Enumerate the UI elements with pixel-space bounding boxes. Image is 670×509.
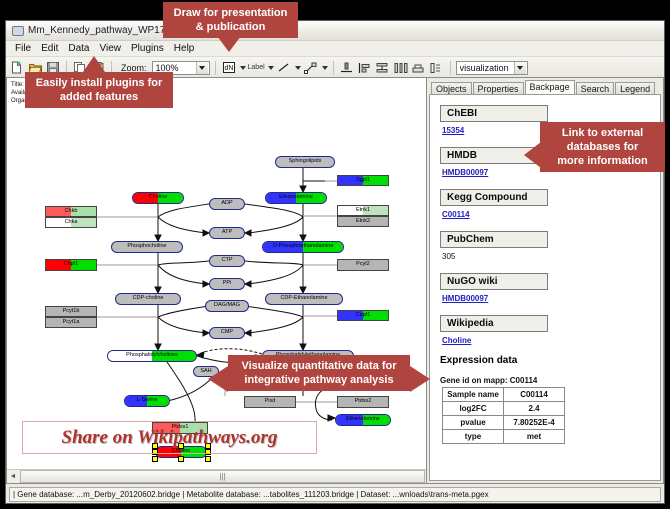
menu-item-file[interactable]: File <box>10 41 36 56</box>
db-link-nugowiki[interactable]: HMDB00097 <box>442 294 652 303</box>
node-label: CMP <box>210 328 244 338</box>
metabolite-node-ethanolamine-top[interactable]: Ethanolamine <box>265 192 327 204</box>
node-label: Phosphatidylcholines <box>108 351 196 361</box>
exp-cell-key: type <box>443 430 504 444</box>
db-header-wikipedia: Wikipedia <box>440 315 548 332</box>
metabolite-node-atp[interactable]: ATP <box>209 227 245 239</box>
db-header-nugowiki: NuGO wiki <box>440 273 548 290</box>
callout-visualize: Visualize quantitative data for integrat… <box>228 355 410 391</box>
node-label: CTP <box>210 256 244 266</box>
chevron-down-icon[interactable] <box>196 62 208 74</box>
align-left-icon[interactable] <box>357 59 373 76</box>
chevron-down-icon[interactable] <box>514 62 526 74</box>
metabolite-node-cdp-ethanolamine[interactable]: CDP-Ethanolamine <box>265 293 343 305</box>
zoom-value: 100% <box>156 63 179 73</box>
callout-visualize-arrow-left-icon <box>208 366 228 392</box>
node-label: CDP-Ethanolamine <box>266 294 342 304</box>
expression-table: Sample name C00114 log2FC 2.4 pvalue 7.8… <box>442 387 565 444</box>
exp-cell-value: met <box>504 430 565 444</box>
visualization-value: visualization <box>460 63 509 73</box>
metabolite-node-sphingolipids[interactable]: Sphingolipids <box>275 156 335 168</box>
label-dropdown-label[interactable]: Label <box>248 64 265 71</box>
metabolite-node-cmp[interactable]: CMP <box>209 327 245 339</box>
metabolite-node-l-serine-left[interactable]: L-Serine <box>124 395 170 407</box>
scroll-left-arrow-icon[interactable]: ◄ <box>7 471 19 483</box>
node-label: DAG/MAG <box>206 301 248 311</box>
node-label: Chka <box>46 218 96 227</box>
visualization-combobox[interactable]: visualization <box>456 61 528 75</box>
node-label: O-Phosphoethanolamine <box>263 242 343 252</box>
callout-draw-line2: & publication <box>171 20 290 34</box>
gene-node-etnk1[interactable]: Etnk1 <box>337 205 389 216</box>
tab-backpage[interactable]: Backpage <box>525 80 575 94</box>
callout-links-line1: Link to external <box>548 126 657 140</box>
callout-plugins: Easily install plugins for added feature… <box>25 72 173 108</box>
gene-node-cept1[interactable]: Cept1 <box>337 310 389 321</box>
table-row: log2FC 2.4 <box>443 402 565 416</box>
status-databases: | Gene database: ...m_Derby_20120602.bri… <box>9 487 661 502</box>
menu-item-edit[interactable]: Edit <box>36 41 63 56</box>
line-tool-icon[interactable] <box>276 59 292 76</box>
selection-handle[interactable] <box>178 456 184 462</box>
callout-links-line2: databases for <box>548 140 657 154</box>
menu-item-help[interactable]: Help <box>169 41 200 56</box>
db-link-wikipedia[interactable]: Choline <box>442 336 652 345</box>
menu-bar: File Edit Data View Plugins Help <box>6 41 664 57</box>
callout-share: Share on Wikipathways.org <box>22 421 317 454</box>
menu-item-view[interactable]: View <box>94 41 126 56</box>
chevron-down-icon[interactable] <box>268 66 274 70</box>
metabolite-node-cdp-choline[interactable]: CDP-choline <box>115 293 181 305</box>
exp-cell-value: C00114 <box>504 388 565 402</box>
db-header-pubchem: PubChem <box>440 231 548 248</box>
exp-cell-key: Sample name <box>443 388 504 402</box>
db-link-kegg[interactable]: C00114 <box>442 210 652 219</box>
node-label: Pisd <box>245 397 295 407</box>
node-label: ATP <box>210 228 244 238</box>
gene-node-chkb[interactable]: Chkb <box>45 206 97 217</box>
callout-draw-arrow-stem <box>221 34 236 40</box>
scroll-thumb[interactable]: ||| <box>20 470 425 483</box>
callout-draw-line1: Draw for presentation <box>171 6 290 20</box>
callout-draw: Draw for presentation & publication <box>163 2 298 38</box>
node-label: CDP-choline <box>116 294 180 304</box>
side-panel-tabs: Objects Properties Backpage Search Legen… <box>427 78 663 94</box>
table-row: type met <box>443 430 565 444</box>
exp-cell-key: log2FC <box>443 402 504 416</box>
anchor-tool-icon[interactable] <box>303 59 319 76</box>
node-label: Cept1 <box>338 311 388 320</box>
node-label: Choline <box>133 193 183 203</box>
node-label: Sgpl1 <box>338 176 388 185</box>
callout-share-text: Share on Wikipathways.org <box>62 427 278 449</box>
metabolite-node-ctp[interactable]: CTP <box>209 255 245 267</box>
callout-links-arrow-stem <box>538 149 546 161</box>
zoom-label: Zoom: <box>121 63 147 73</box>
gene-node-chpt1[interactable]: Chpt1 <box>45 259 97 271</box>
menu-item-data[interactable]: Data <box>63 41 94 56</box>
canvas-hscrollbar[interactable]: ◄ ||| <box>7 469 426 483</box>
selection-handle[interactable] <box>152 456 158 462</box>
order-icon[interactable] <box>429 59 445 76</box>
app-icon <box>11 24 24 37</box>
node-label: Etnk1 <box>338 206 388 215</box>
callout-visualize-line2: integrative pathway analysis <box>236 373 402 387</box>
gene-node-etnk2[interactable]: Etnk2 <box>337 216 389 227</box>
status-bar: | Gene database: ...m_Derby_20120602.bri… <box>6 485 664 503</box>
node-label: Pcyt1b <box>46 307 96 316</box>
gene-node-pcyt1a[interactable]: Pcyt1a <box>45 317 97 328</box>
node-label: Phosphocholine <box>112 242 182 252</box>
metabolite-node-phosphocholine[interactable]: Phosphocholine <box>111 241 183 253</box>
expression-data-title: Expression data <box>440 355 652 366</box>
metabolite-node-phosphatidylcholines[interactable]: Phosphatidylcholines <box>107 350 197 362</box>
selection-handle[interactable] <box>205 456 211 462</box>
group-icon[interactable] <box>411 59 427 76</box>
node-label: ADP <box>210 199 244 209</box>
node-label: L-Serine <box>125 396 169 406</box>
callout-plugins-line1: Easily install plugins for <box>33 76 165 90</box>
exp-cell-key: pvalue <box>443 416 504 430</box>
gene-node-pcyt1b[interactable]: Pcyt1b <box>45 306 97 317</box>
gene-node-ptdss2[interactable]: Ptdss2 <box>337 396 389 408</box>
callout-links: Link to external databases for more info… <box>540 122 665 172</box>
node-label: PPi <box>210 279 244 289</box>
stack-icon[interactable] <box>375 59 391 76</box>
metabolite-node-adp[interactable]: ADP <box>209 198 245 210</box>
align-bottom-icon[interactable] <box>339 59 355 76</box>
table-row: pvalue 7.80252E-4 <box>443 416 565 430</box>
table-row: Sample name C00114 <box>443 388 565 402</box>
gene-node-pisd[interactable]: Pisd <box>244 396 296 408</box>
metabolite-node-o-phosphoethanolamine[interactable]: O-Phosphoethanolamine <box>262 241 344 253</box>
datanode-icon[interactable]: dN <box>221 59 237 76</box>
callout-plugins-line2: added features <box>33 90 165 104</box>
gene-node-chka[interactable]: Chka <box>45 217 97 228</box>
toolbar-separator <box>450 61 451 75</box>
node-label: Ethanolamine <box>266 193 326 203</box>
metabolite-node-choline-top[interactable]: Choline <box>132 192 184 204</box>
metabolite-node-ppi[interactable]: PPi <box>209 278 245 290</box>
chevron-down-icon[interactable] <box>295 66 301 70</box>
node-label: Ethanolamine <box>336 415 390 425</box>
node-label: Pcyt1a <box>46 318 96 327</box>
gene-node-pcyt2[interactable]: Pcyt2 <box>337 259 389 271</box>
window-titlebar: Mm_Kennedy_pathway_WP1771_45176.gpml <box>6 21 664 41</box>
gene-id-on-mapp: Gene id on mapp: C00114 <box>440 376 652 385</box>
screenshot-root: Mm_Kennedy_pathway_WP1771_45176.gpml Fil… <box>0 0 670 509</box>
metabolite-node-ethanolamine-right[interactable]: Ethanolamine <box>335 414 391 426</box>
chevron-down-icon[interactable] <box>240 66 246 70</box>
svg-text:dN: dN <box>224 65 233 72</box>
metabolite-node-dag-mag[interactable]: DAG/MAG <box>205 300 249 312</box>
node-label: Chpt1 <box>46 260 96 270</box>
callout-visualize-line1: Visualize quantitative data for <box>236 359 402 373</box>
db-header-chebi: ChEBI <box>440 105 548 122</box>
exp-cell-value: 7.80252E-4 <box>504 416 565 430</box>
db-value-pubchem: 305 <box>442 252 652 261</box>
chevron-down-icon[interactable] <box>322 66 328 70</box>
menu-item-plugins[interactable]: Plugins <box>126 41 169 56</box>
toolbar-separator <box>215 61 216 75</box>
node-label: Chkb <box>46 207 96 216</box>
node-label: Etnk2 <box>338 217 388 226</box>
db-header-kegg: Kegg Compound <box>440 189 548 206</box>
node-label: Sphingolipids <box>276 157 334 167</box>
node-label: Pcyt2 <box>338 260 388 270</box>
toolbar-separator <box>333 61 334 75</box>
gene-node-sgpl1[interactable]: Sgpl1 <box>337 175 389 186</box>
new-file-icon[interactable] <box>9 59 25 76</box>
callout-plugins-arrow-stem <box>88 68 100 76</box>
callout-visualize-arrow-right-icon <box>410 366 430 392</box>
callout-links-line3: more information <box>548 154 657 168</box>
distribute-icon[interactable] <box>393 59 409 76</box>
exp-cell-value: 2.4 <box>504 402 565 416</box>
node-label: Ptdss2 <box>338 397 388 407</box>
